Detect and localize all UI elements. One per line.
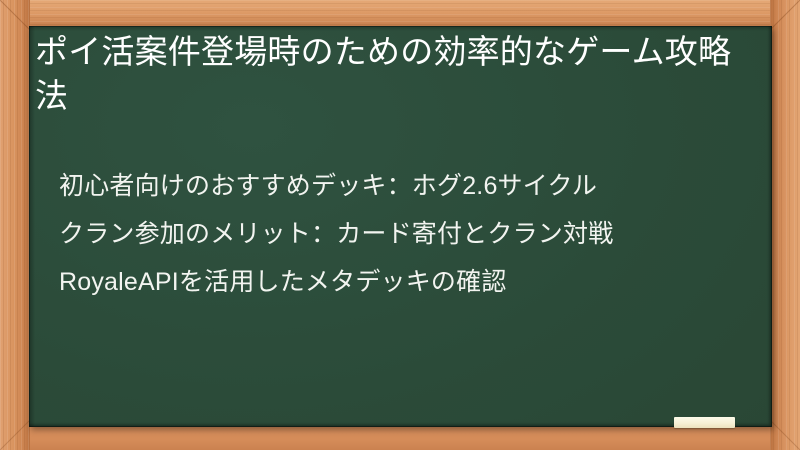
chalkboard-content: ポイ活案件登場時のための効率的なゲーム攻略法 初心者向けのおすすめデッキ：ホグ2…: [29, 26, 772, 427]
list-item: RoyaleAPIを活用したメタデッキの確認: [59, 270, 759, 295]
list-item: クラン参加のメリット：カード寄付とクラン対戦: [59, 222, 759, 247]
chalk-stick-icon: [674, 417, 735, 428]
frame-stile-left: [0, 0, 30, 450]
frame-rail-top: [0, 0, 800, 26]
frame-rail-bottom: [0, 427, 800, 450]
topic-list: 初心者向けのおすすめデッキ：ホグ2.6サイクル クラン参加のメリット：カード寄付…: [59, 174, 759, 295]
chalkboard-frame: ポイ活案件登場時のための効率的なゲーム攻略法 初心者向けのおすすめデッキ：ホグ2…: [0, 0, 800, 450]
frame-stile-right: [770, 0, 800, 450]
chalkboard-surface: ポイ活案件登場時のための効率的なゲーム攻略法 初心者向けのおすすめデッキ：ホグ2…: [29, 26, 772, 427]
page-title: ポイ活案件登場時のための効率的なゲーム攻略法: [35, 30, 755, 118]
list-item: 初心者向けのおすすめデッキ：ホグ2.6サイクル: [59, 174, 759, 199]
